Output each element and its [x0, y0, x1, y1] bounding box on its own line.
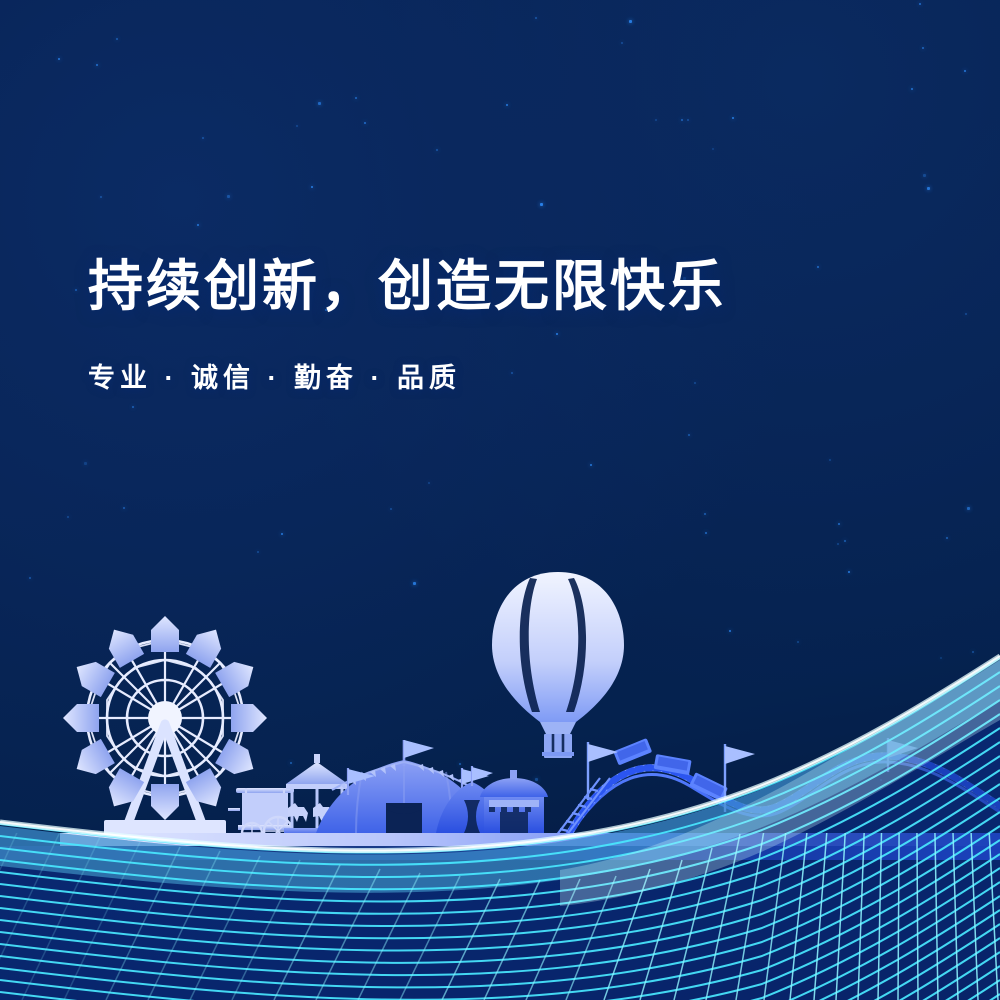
hero-banner: 持续创新，创造无限快乐 专业 · 诚信 · 勤奋 · 品质	[0, 0, 1000, 1000]
amusement-park-scene	[0, 0, 1000, 1000]
ticket-booth	[480, 770, 548, 833]
hot-air-balloon	[492, 572, 624, 758]
page-title: 持续创新，创造无限快乐	[88, 255, 908, 318]
page-subtitle: 专业 · 诚信 · 勤奋 · 品质	[88, 356, 908, 395]
hero-copy: 持续创新，创造无限快乐 专业 · 诚信 · 勤奋 · 品质	[88, 255, 908, 395]
